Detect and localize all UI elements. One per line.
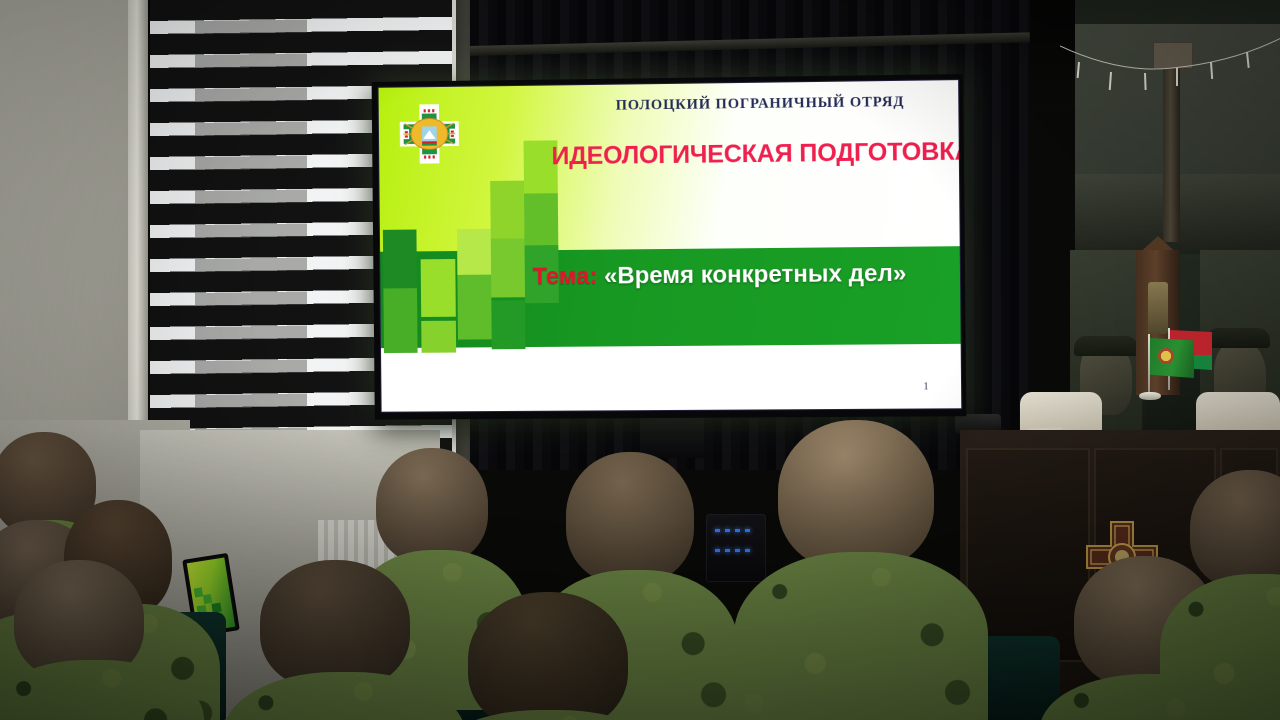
presentation-display[interactable]: ПОЛОЦКИЙ ПОГРАНИЧНЫЙ ОТРЯД ИДЕОЛОГИЧЕСКА… [372,74,967,420]
person-head [778,420,934,570]
audience-person [448,592,658,720]
person-uniform [0,660,204,720]
marker-crest [1148,282,1168,334]
person-uniform [432,710,668,720]
portrait-peaked-cap [1206,328,1270,348]
person-head [376,448,488,564]
status-led [745,529,750,532]
mural-border-post [1163,42,1180,242]
briefing-room-scene: ПОЛОЦКИЙ ПОГРАНИЧНЫЙ ОТРЯД ИДЕОЛОГИЧЕСКА… [0,0,1280,720]
person-head [1190,470,1280,590]
flag-pole [1148,334,1150,396]
status-led [715,529,720,532]
audience-person [762,420,958,720]
flag-cloth-green [1150,338,1194,378]
audio-amplifier-unit[interactable] [706,514,766,582]
presentation-slide: ПОЛОЦКИЙ ПОГРАНИЧНЫЙ ОТРЯД ИДЕОЛОГИЧЕСКА… [379,80,962,412]
status-led [725,529,730,532]
status-led [715,549,720,552]
portrait-peaked-cap [1074,336,1138,356]
person-head [468,592,628,720]
slide-main-title: ИДЕОЛОГИЧЕСКАЯ ПОДГОТОВКА [551,138,959,172]
audience-person [246,560,436,720]
belarus-border-guard-cross-emblem [398,103,462,165]
person-uniform [222,672,466,720]
flag-stand [1139,392,1161,400]
status-led [735,529,740,532]
status-led [735,549,740,552]
slide-topic-row: Тема: «Время конкретных дел» [532,259,961,291]
slide-topic-label: Тема: [532,262,597,290]
slide-page-number: 1 [923,380,929,392]
border-guard-flag [1148,352,1194,394]
audience-person [14,560,186,720]
mural-border-sign [1153,42,1193,69]
status-led [745,549,750,552]
display-screen: ПОЛОЦКИЙ ПОГРАНИЧНЫЙ ОТРЯД ИДЕОЛОГИЧЕСКА… [378,79,963,413]
status-led [725,549,730,552]
audience-person [1180,470,1280,720]
person-head [566,452,694,584]
person-uniform [734,552,988,720]
slide-topic-text: «Время конкретных дел» [604,259,907,289]
flag-emblem [1158,348,1174,364]
person-head [260,560,410,690]
